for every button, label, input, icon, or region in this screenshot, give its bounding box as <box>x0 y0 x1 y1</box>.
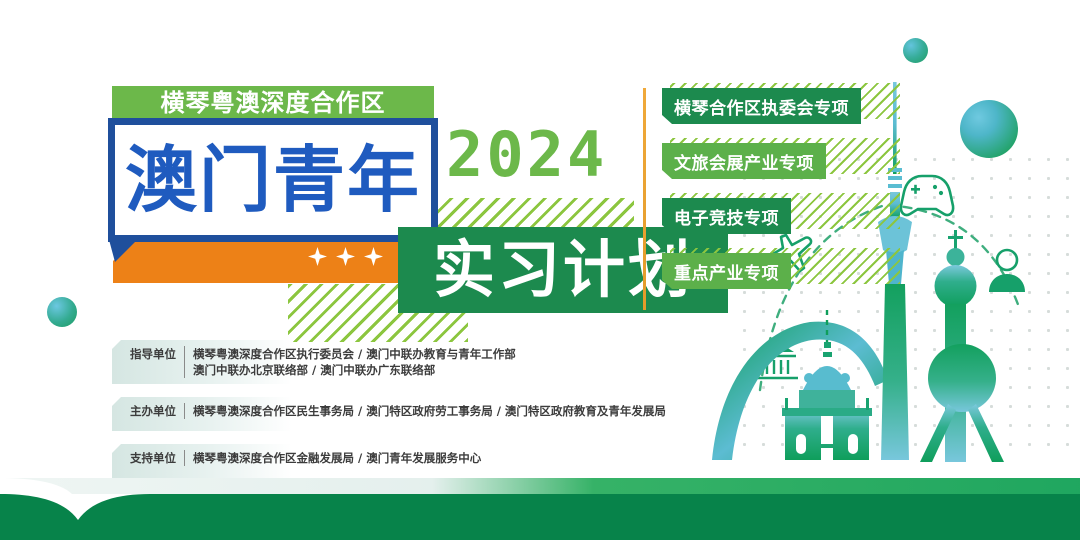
credit-separator <box>184 403 185 419</box>
credit-row: 指导单位 横琴粤澳深度合作区执行委员会 / 澳门中联办教育与青年工作部 澳门中联… <box>112 340 672 384</box>
title-lockup: 横琴粤澳深度合作区 澳门青年 2024 实习计划 <box>108 86 628 311</box>
tag-label: 文旅会展产业专项 <box>674 149 814 174</box>
person-icon <box>989 250 1025 292</box>
credit-separator <box>184 346 185 378</box>
decorative-sphere-small <box>47 297 77 327</box>
credit-label: 指导单位 <box>130 346 184 362</box>
diamond-icon <box>364 247 383 266</box>
gamepad-icon <box>901 176 953 215</box>
credit-line: 横琴粤澳深度合作区执行委员会 / 澳门中联办教育与青年工作部 <box>193 346 516 362</box>
vertical-divider <box>643 88 646 310</box>
program-tag[interactable]: 横琴合作区执委会专项 <box>662 88 892 124</box>
eyebrow-text: 横琴粤澳深度合作区 <box>112 86 434 120</box>
bottom-decorative-bars <box>0 460 1080 540</box>
tag-plate: 电子竞技专项 <box>662 198 791 234</box>
program-tag[interactable]: 文旅会展产业专项 <box>662 143 892 179</box>
bottom-bar-light <box>0 478 1080 494</box>
title-frame-tail <box>108 236 141 262</box>
tag-label: 横琴合作区执委会专项 <box>674 94 849 119</box>
program-tag[interactable]: 重点产业专项 <box>662 253 892 289</box>
tag-plate: 横琴合作区执委会专项 <box>662 88 861 124</box>
credit-body: 横琴粤澳深度合作区民生事务局 / 澳门特区政府劳工事务局 / 澳门特区政府教育及… <box>193 403 666 419</box>
program-tag-list: 横琴合作区执委会专项 文旅会展产业专项 电子竞技专项 重点产业专项 <box>662 88 892 308</box>
eyebrow-band: 横琴粤澳深度合作区 <box>112 86 434 120</box>
year-label: 2024 <box>446 124 607 186</box>
main-title-text: 澳门青年 <box>125 144 421 216</box>
program-tag[interactable]: 电子竞技专项 <box>662 198 892 234</box>
credit-line: 横琴粤澳深度合作区民生事务局 / 澳门特区政府劳工事务局 / 澳门特区政府教育及… <box>193 403 666 419</box>
bottom-bar-dark <box>0 494 1080 540</box>
diamond-icon <box>308 247 327 266</box>
sub-title-text: 实习计划 <box>433 239 693 301</box>
credit-label: 主办单位 <box>130 403 184 419</box>
diamond-decorations <box>308 247 383 266</box>
orange-strip <box>113 241 433 283</box>
main-title: 澳门青年 <box>116 126 430 234</box>
tag-plate: 文旅会展产业专项 <box>662 143 826 179</box>
diamond-icon <box>336 247 355 266</box>
tag-label: 电子竞技专项 <box>674 204 779 229</box>
credit-line: 澳门中联办北京联络部 / 澳门中联办广东联络部 <box>193 362 516 378</box>
credit-body: 横琴粤澳深度合作区执行委员会 / 澳门中联办教育与青年工作部 澳门中联办北京联络… <box>193 346 516 378</box>
tag-plate: 重点产业专项 <box>662 253 791 289</box>
poster-root: 横琴粤澳深度合作区 澳门青年 2024 实习计划 横琴合作区执委会专项 <box>0 0 1080 540</box>
credit-row: 主办单位 横琴粤澳深度合作区民生事务局 / 澳门特区政府劳工事务局 / 澳门特区… <box>112 397 672 431</box>
tag-label: 重点产业专项 <box>674 259 779 284</box>
